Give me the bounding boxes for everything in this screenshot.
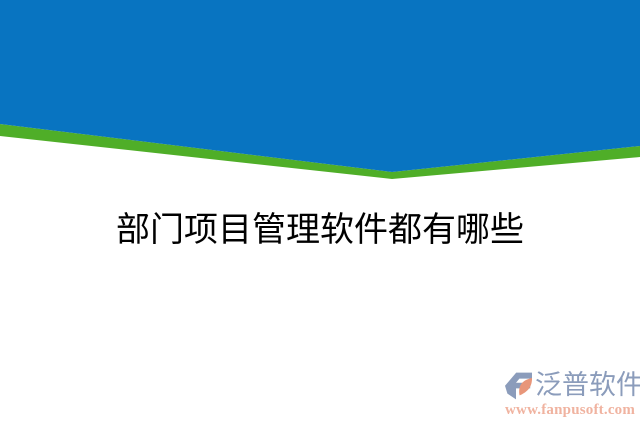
slide-canvas: 部门项目管理软件都有哪些 泛普软件 www.fanpusoft.com bbox=[0, 0, 640, 427]
brand-logo: 泛普软件 www.fanpusoft.com bbox=[503, 368, 636, 418]
page-title: 部门项目管理软件都有哪些 bbox=[0, 209, 640, 253]
brand-url: www.fanpusoft.com bbox=[505, 402, 635, 419]
brand-wordmark: 泛普软件 bbox=[535, 370, 640, 400]
fanpu-f-logo-mark-icon bbox=[503, 371, 535, 401]
